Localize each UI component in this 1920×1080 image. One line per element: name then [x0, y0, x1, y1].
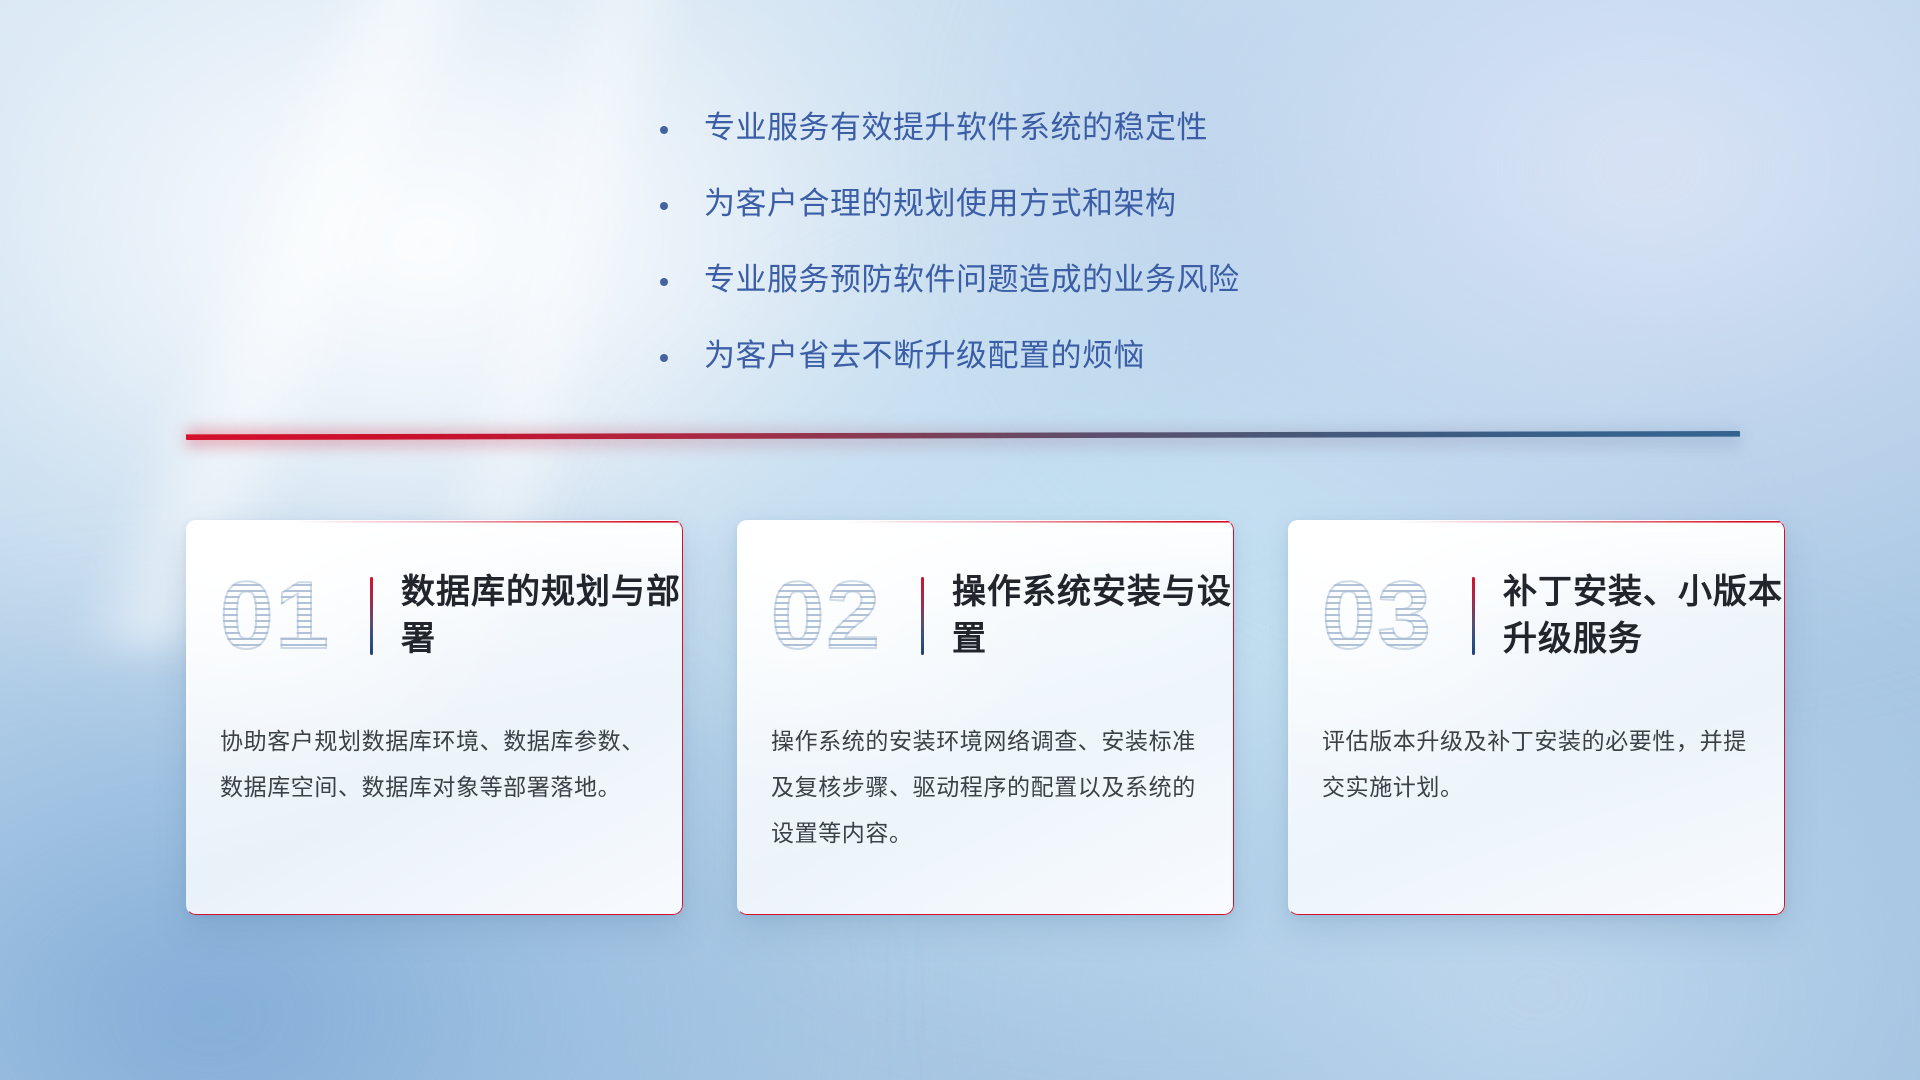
card-title: 补丁安装、小版本升级服务: [1503, 569, 1785, 663]
card-description: 评估版本升级及补丁安装的必要性，并提交实施计划。: [1322, 718, 1749, 810]
card-description: 协助客户规划数据库环境、数据库参数、数据库空间、数据库对象等部署落地。: [220, 718, 647, 810]
card-header: 03 补丁安装、小版本升级服务: [1288, 520, 1785, 670]
card-title: 数据库的规划与部署: [401, 569, 683, 663]
service-card-03[interactable]: 03 补丁安装、小版本升级服务 评估版本升级及补丁安装的必要性，并提交实施计划。: [1288, 520, 1785, 915]
bullet-text: 专业服务有效提升软件系统的稳定性: [704, 108, 1208, 147]
bullet-dot-icon: [660, 126, 668, 134]
card-accent-bar: [921, 577, 924, 655]
card-accent-bar: [1472, 577, 1475, 655]
card-header: 01 数据库的规划与部署: [186, 520, 683, 670]
list-item: 专业服务预防软件问题造成的业务风险: [660, 260, 1240, 299]
card-number: 03: [1322, 568, 1468, 664]
service-card-list: 01 数据库的规划与部署 协助客户规划数据库环境、数据库参数、数据库空间、数据库…: [186, 520, 1785, 915]
list-item: 为客户合理的规划使用方式和架构: [660, 184, 1240, 223]
list-item: 为客户省去不断升级配置的烦恼: [660, 336, 1240, 375]
card-header: 02 操作系统安装与设置: [737, 520, 1234, 670]
bullet-text: 为客户合理的规划使用方式和架构: [704, 184, 1177, 223]
card-number: 02: [771, 568, 917, 664]
card-accent-bar: [370, 577, 373, 655]
service-card-02[interactable]: 02 操作系统安装与设置 操作系统的安装环境网络调查、安装标准及复核步骤、驱动程…: [737, 520, 1234, 915]
bullet-dot-icon: [660, 202, 668, 210]
bullet-text: 专业服务预防软件问题造成的业务风险: [704, 260, 1240, 299]
bullet-text: 为客户省去不断升级配置的烦恼: [704, 336, 1145, 375]
benefits-bullet-list: 专业服务有效提升软件系统的稳定性 为客户合理的规划使用方式和架构 专业服务预防软…: [660, 108, 1240, 375]
list-item: 专业服务有效提升软件系统的稳定性: [660, 108, 1240, 147]
card-title: 操作系统安装与设置: [952, 569, 1234, 663]
card-number: 01: [220, 568, 366, 664]
section-divider: [186, 428, 1740, 450]
card-description: 操作系统的安装环境网络调查、安装标准及复核步骤、驱动程序的配置以及系统的设置等内…: [771, 718, 1198, 856]
bullet-dot-icon: [660, 354, 668, 362]
service-card-01[interactable]: 01 数据库的规划与部署 协助客户规划数据库环境、数据库参数、数据库空间、数据库…: [186, 520, 683, 915]
bullet-dot-icon: [660, 278, 668, 286]
